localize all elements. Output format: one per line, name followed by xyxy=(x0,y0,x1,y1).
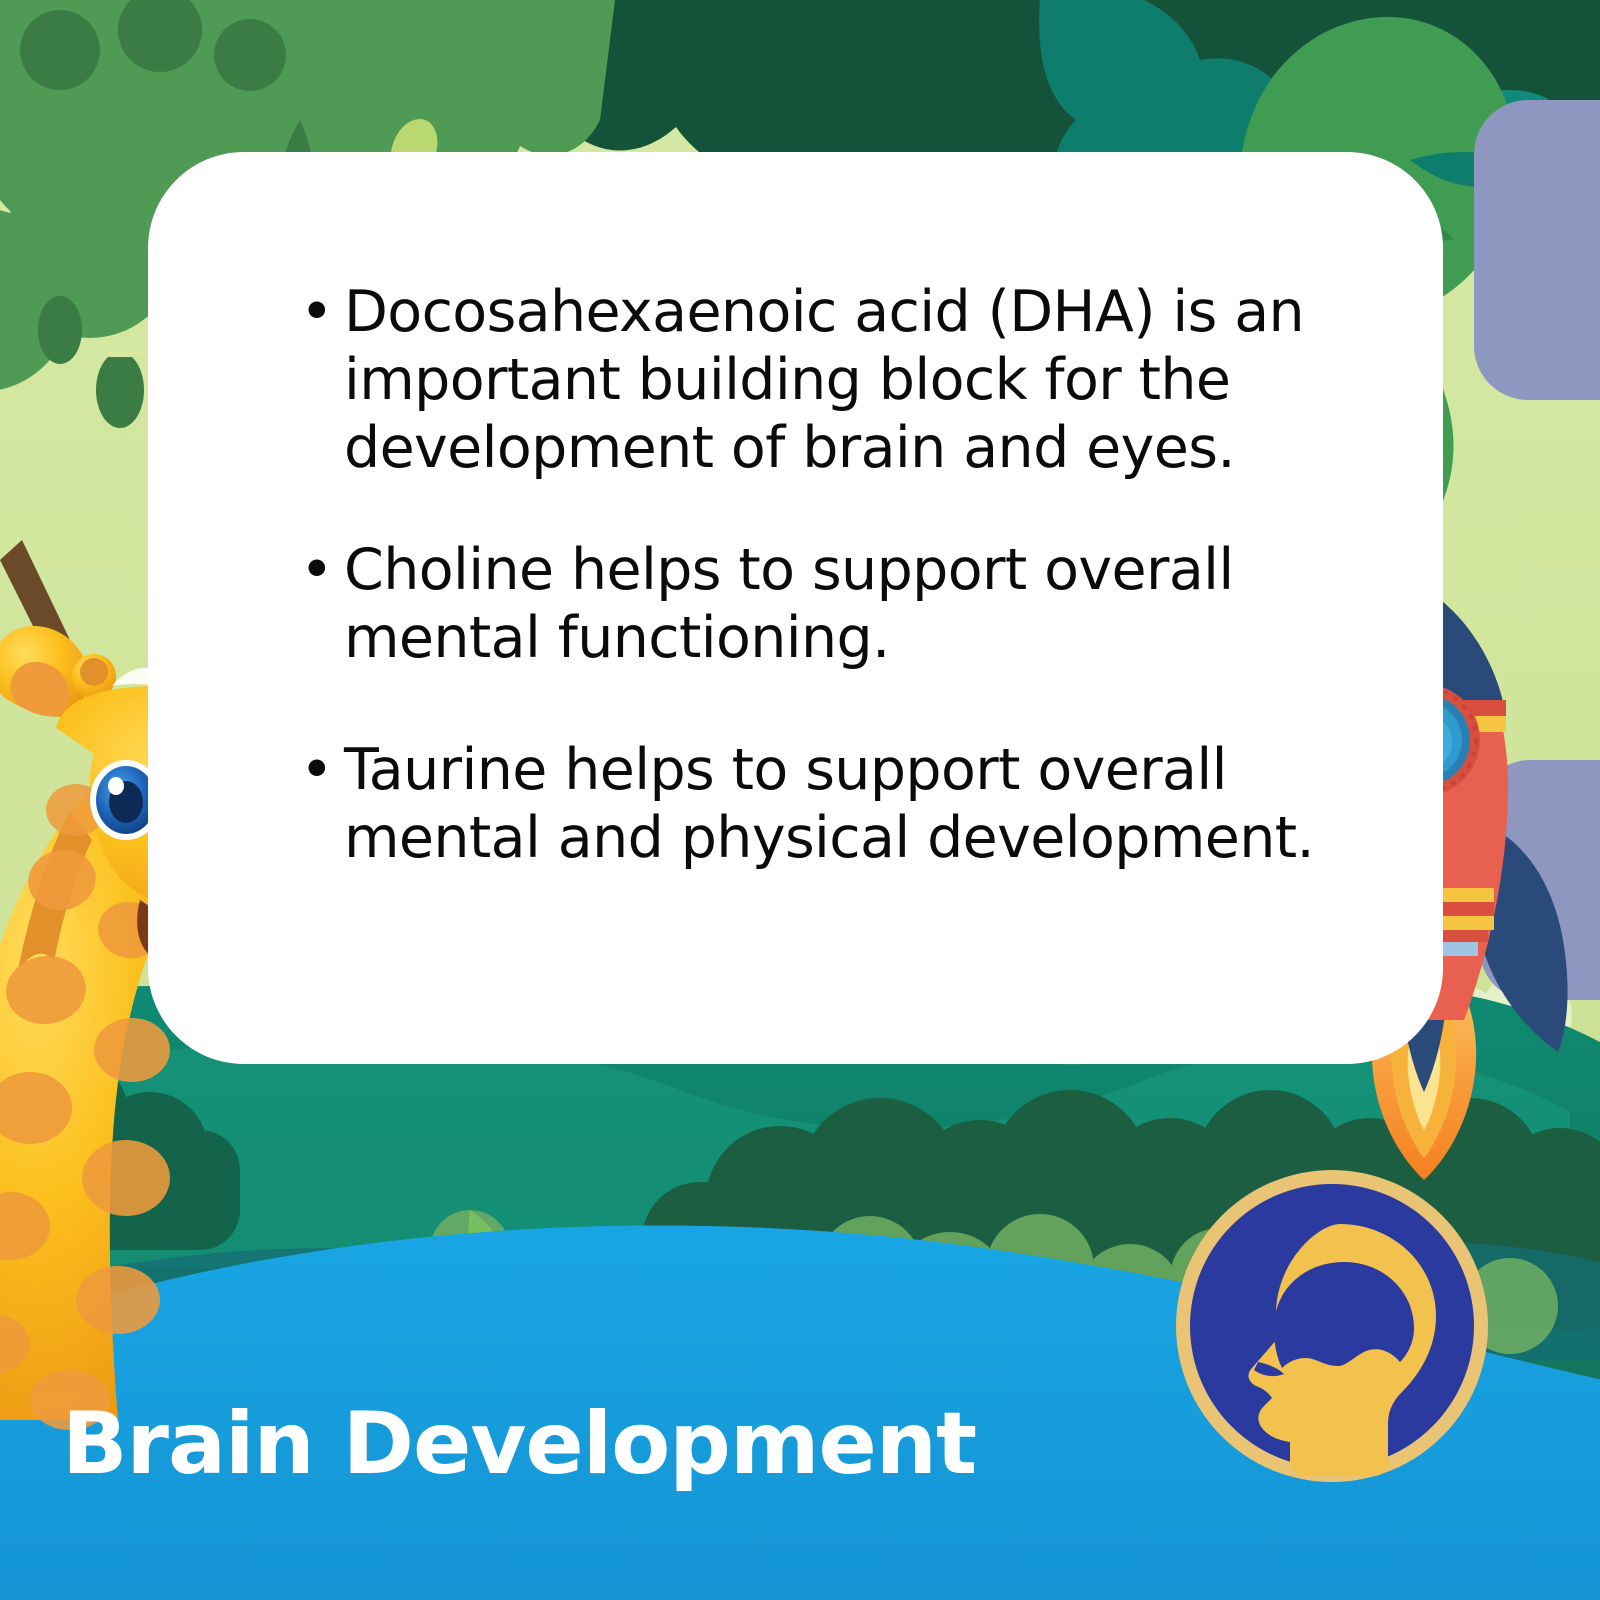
bullet-list: • Docosahexaenoic acid (DHA) is an impor… xyxy=(300,278,1420,872)
poster-canvas: • Docosahexaenoic acid (DHA) is an impor… xyxy=(0,0,1600,1600)
bullet-text-3: Taurine helps to support overall mental … xyxy=(344,736,1420,872)
bullet-item-2: • Choline helps to support overall menta… xyxy=(300,536,1420,672)
bullet-marker-icon: • xyxy=(300,278,344,346)
brain-badge xyxy=(1172,1166,1492,1486)
page-title: Brain Development xyxy=(62,1398,976,1490)
bullet-marker-icon: • xyxy=(300,736,344,804)
bullet-marker-icon: • xyxy=(300,536,344,604)
bullet-item-1: • Docosahexaenoic acid (DHA) is an impor… xyxy=(300,278,1420,482)
bullet-text-1: Docosahexaenoic acid (DHA) is an importa… xyxy=(344,278,1420,482)
bullet-text-2: Choline helps to support overall mental … xyxy=(344,536,1420,672)
bullet-item-3: • Taurine helps to support overall menta… xyxy=(300,736,1420,872)
decor-panel-right xyxy=(1474,100,1600,400)
